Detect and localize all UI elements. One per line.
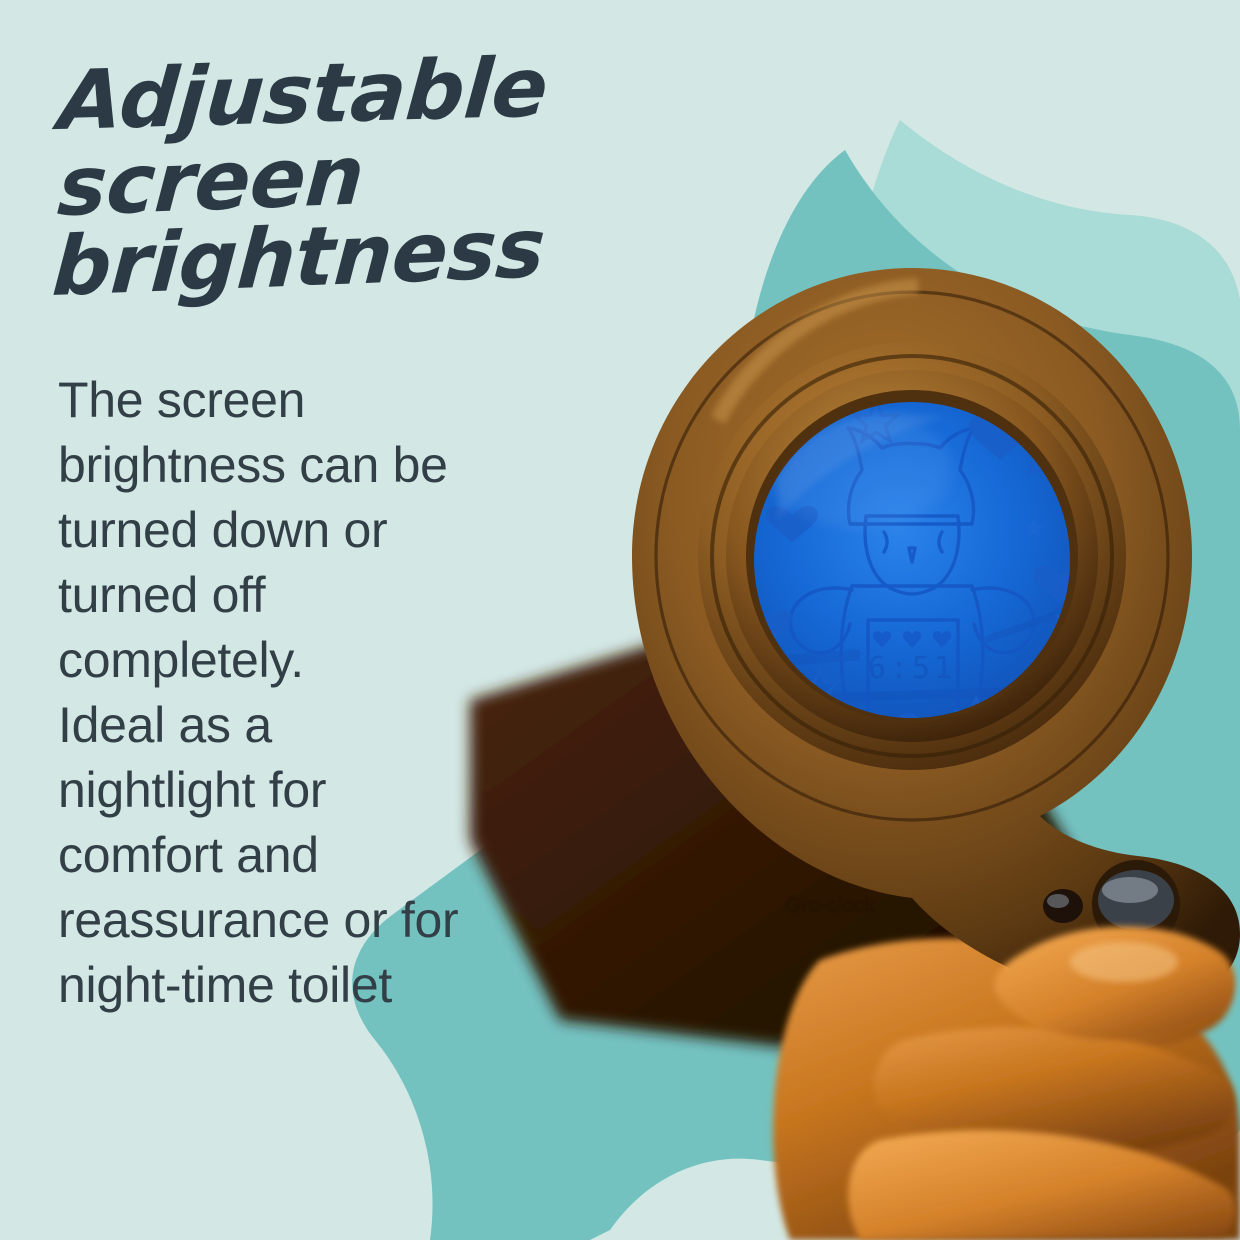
device-bezel-groove: [712, 356, 1112, 756]
screen-clock-digits: 6:51: [868, 651, 956, 686]
device-bezel-inner: [726, 370, 1098, 742]
headline-line-2: screen brightness: [50, 121, 769, 309]
owl-head: [848, 428, 974, 524]
screen-stars: [801, 401, 1094, 736]
heart-icon: [865, 713, 919, 751]
button-small-highlight: [1047, 894, 1069, 908]
owl-wing-left: [790, 588, 852, 653]
screen-glass-reflection: [778, 412, 944, 520]
device-seam: [656, 292, 1168, 820]
owl-foot-left: [874, 760, 884, 780]
button-large[interactable]: [1098, 870, 1174, 930]
heart-icon: [969, 416, 1031, 460]
owl-body: [841, 586, 983, 760]
screen-ground-line-2: [762, 655, 860, 662]
button-large-well: [1092, 860, 1180, 948]
owl-belly-hearts: [873, 631, 951, 648]
screen-branch-line: [985, 608, 1075, 640]
button-large-highlight: [1102, 877, 1158, 903]
device-body: [632, 268, 1240, 1003]
hand-palm: [773, 938, 1240, 1240]
heart-icon: [1019, 691, 1064, 723]
device-bezel-outer: [698, 342, 1126, 770]
heart-icon: [766, 506, 818, 542]
owl-beak: [909, 548, 915, 562]
star-icon: [956, 698, 996, 736]
owl-eye-left: [884, 532, 887, 552]
heart-icon: [1033, 566, 1087, 604]
star-icon: [855, 401, 897, 441]
hand-thumb: [995, 927, 1235, 1040]
screen-stars-filled: [775, 440, 1044, 537]
device-screen[interactable]: [754, 402, 1070, 718]
body-copy: The screen brightness can be turned down…: [58, 368, 588, 1018]
owl-character: [790, 428, 1033, 780]
page-title: Adjustable screen brightness: [56, 62, 756, 309]
owl-wing-right: [972, 588, 1034, 653]
screen-glare: [768, 412, 952, 528]
owl-face: [865, 516, 959, 594]
screen-contents: 6:51: [744, 401, 1094, 780]
star-icon: [801, 669, 838, 705]
owl-belly-panel: [868, 620, 958, 723]
owl-foot-right: [940, 760, 950, 780]
heart-icon: [744, 611, 792, 645]
star-shadow-shape: [812, 120, 1240, 790]
button-small[interactable]: [1043, 889, 1083, 923]
brand-imprint: Gro-clock: [785, 894, 875, 917]
device-screen-lip: [746, 390, 1078, 722]
star-icon: [1057, 603, 1094, 639]
hand-finger-3: [848, 1130, 1236, 1240]
screen-hearts: [744, 416, 1087, 751]
hand-finger-1: [1006, 909, 1234, 1050]
finger-highlight: [1056, 934, 1180, 982]
owl-eye-right: [939, 532, 942, 552]
star-icon: [1024, 518, 1044, 537]
screen-ground-line: [755, 690, 1075, 700]
hand-finger-2: [874, 1027, 1235, 1159]
thumb-nail-highlight: [1070, 942, 1178, 982]
star-icon: [1022, 428, 1070, 474]
star-icon: [775, 440, 806, 469]
promo-graphic: 6:51: [0, 0, 1240, 1240]
